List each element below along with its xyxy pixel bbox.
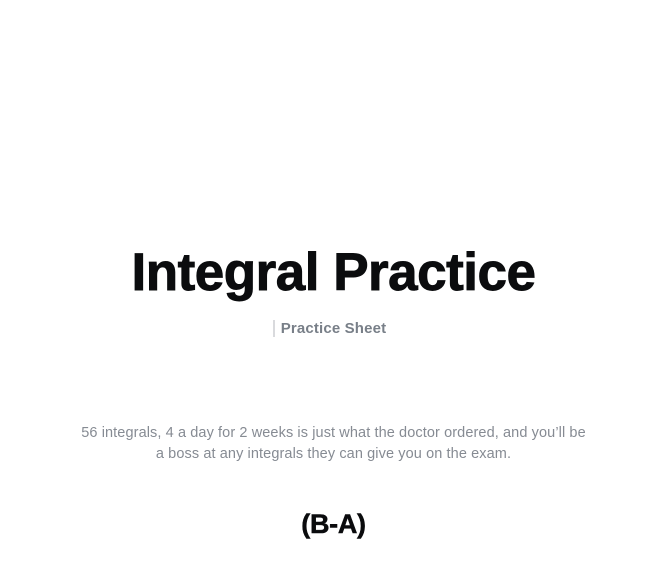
page-title: Integral Practice — [0, 239, 667, 307]
title-block: Integral Practice — [0, 239, 667, 307]
document-page: Integral Practice Practice Sheet 56 inte… — [0, 0, 667, 568]
subtitle-wrap: Practice Sheet — [281, 319, 387, 339]
page-subtitle: Practice Sheet — [281, 319, 387, 339]
text-caret-icon — [273, 320, 275, 337]
footer-block: (B-A) — [0, 506, 667, 542]
description-block: 56 integrals, 4 a day for 2 weeks is jus… — [0, 423, 667, 465]
footer-mark: (B-A) — [0, 506, 667, 542]
subtitle-block: Practice Sheet — [0, 319, 667, 339]
page-description: 56 integrals, 4 a day for 2 weeks is jus… — [78, 423, 590, 465]
